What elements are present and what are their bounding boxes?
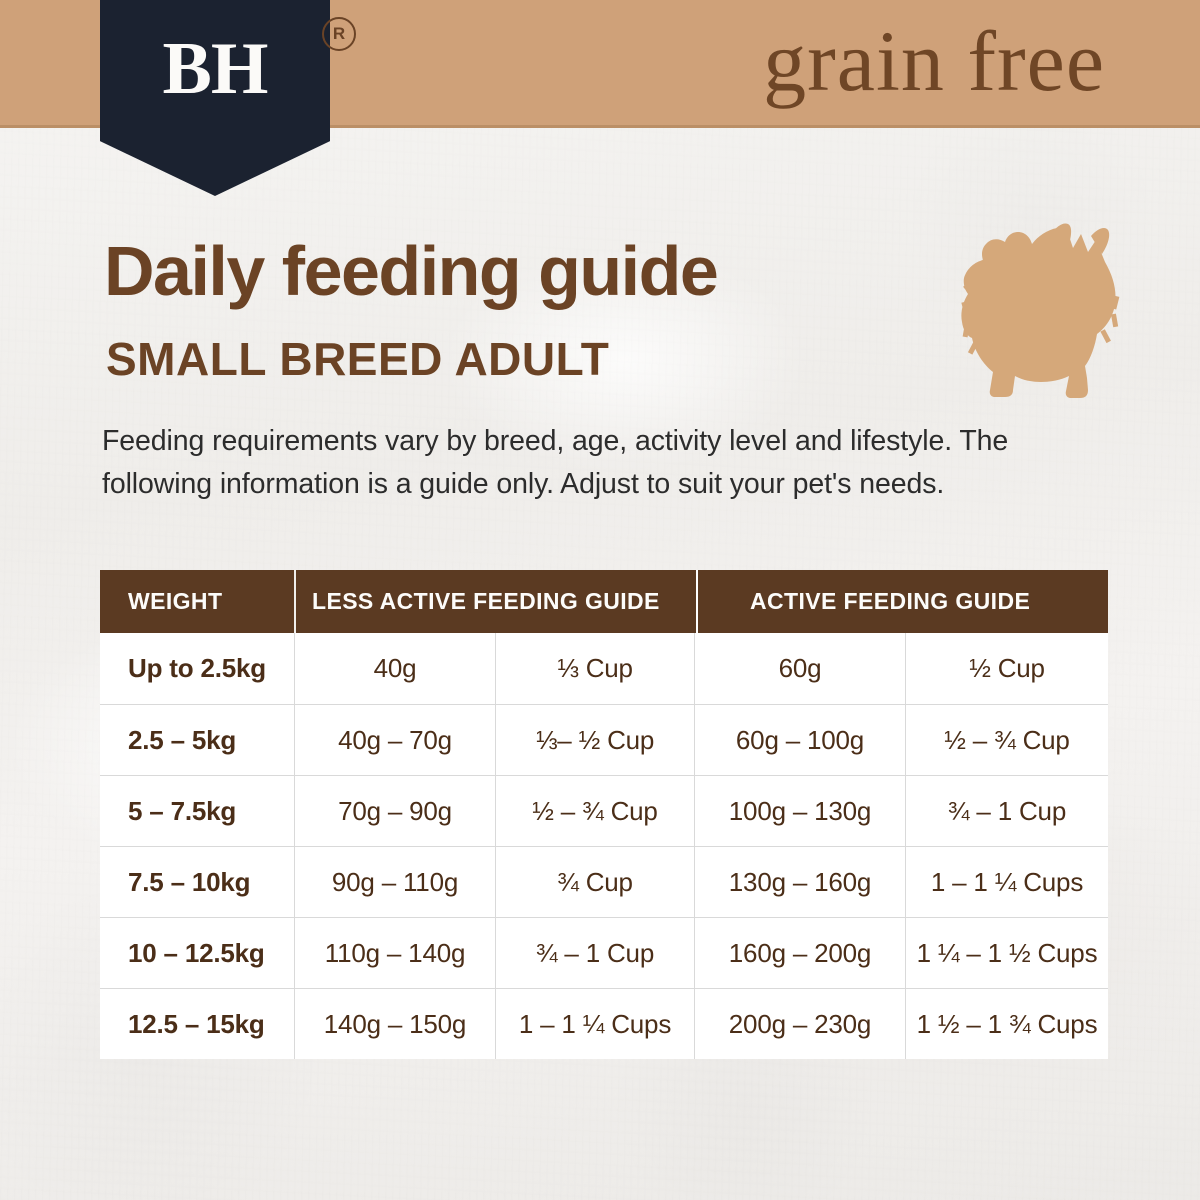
page-subtitle: SMALL BREED ADULT bbox=[106, 336, 609, 382]
table-row: 5 – 7.5kg 70g – 90g ½ – ¾ Cup 100g – 130… bbox=[100, 775, 1108, 846]
column-header-active: ACTIVE FEEDING GUIDE bbox=[698, 570, 1108, 633]
column-header-less-active: LESS ACTIVE FEEDING GUIDE bbox=[296, 570, 696, 633]
table-body: Up to 2.5kg 40g ⅓ Cup 60g ½ Cup 2.5 – 5k… bbox=[100, 633, 1108, 1059]
table-row: 10 – 12.5kg 110g – 140g ¾ – 1 Cup 160g –… bbox=[100, 917, 1108, 988]
cell-less-active-cups: ⅓ Cup bbox=[495, 633, 694, 704]
table-row: 12.5 – 15kg 140g – 150g 1 – 1 ¼ Cups 200… bbox=[100, 988, 1108, 1059]
page-title: Daily feeding guide bbox=[104, 236, 717, 306]
cell-less-active-cups: ⅓– ½ Cup bbox=[495, 705, 694, 775]
cell-active-cups: 1 – 1 ¼ Cups bbox=[905, 847, 1108, 917]
cell-less-active-cups: ½ – ¾ Cup bbox=[495, 776, 694, 846]
cell-active-cups: ¾ – 1 Cup bbox=[905, 776, 1108, 846]
small-breed-dog-silhouette-icon bbox=[955, 218, 1130, 408]
cell-less-active-grams: 40g – 70g bbox=[294, 705, 495, 775]
cell-less-active-grams: 40g bbox=[294, 633, 495, 704]
table-row: 7.5 – 10kg 90g – 110g ¾ Cup 130g – 160g … bbox=[100, 846, 1108, 917]
cell-less-active-grams: 70g – 90g bbox=[294, 776, 495, 846]
cell-weight: 12.5 – 15kg bbox=[100, 989, 294, 1059]
cell-active-cups: ½ – ¾ Cup bbox=[905, 705, 1108, 775]
cell-less-active-grams: 140g – 150g bbox=[294, 989, 495, 1059]
cell-weight: 2.5 – 5kg bbox=[100, 705, 294, 775]
cell-weight: 5 – 7.5kg bbox=[100, 776, 294, 846]
cell-active-grams: 160g – 200g bbox=[694, 918, 905, 988]
cell-active-grams: 60g – 100g bbox=[694, 705, 905, 775]
brand-logo-text: BH bbox=[163, 32, 268, 106]
cell-active-grams: 200g – 230g bbox=[694, 989, 905, 1059]
table-header-row: WEIGHT LESS ACTIVE FEEDING GUIDE ACTIVE … bbox=[100, 570, 1108, 633]
cell-active-grams: 60g bbox=[694, 633, 905, 704]
cell-weight: Up to 2.5kg bbox=[100, 633, 294, 704]
cell-less-active-grams: 90g – 110g bbox=[294, 847, 495, 917]
cell-weight: 10 – 12.5kg bbox=[100, 918, 294, 988]
cell-active-cups: 1 ¼ – 1 ½ Cups bbox=[905, 918, 1108, 988]
daily-feeding-table: WEIGHT LESS ACTIVE FEEDING GUIDE ACTIVE … bbox=[100, 570, 1108, 1059]
cell-active-cups: 1 ½ – 1 ¾ Cups bbox=[905, 989, 1108, 1059]
cell-less-active-cups: ¾ Cup bbox=[495, 847, 694, 917]
table-row: Up to 2.5kg 40g ⅓ Cup 60g ½ Cup bbox=[100, 633, 1108, 704]
cell-less-active-grams: 110g – 140g bbox=[294, 918, 495, 988]
cell-less-active-cups: 1 – 1 ¼ Cups bbox=[495, 989, 694, 1059]
cell-active-cups: ½ Cup bbox=[905, 633, 1108, 704]
cell-active-grams: 130g – 160g bbox=[694, 847, 905, 917]
intro-paragraph: Feeding requirements vary by breed, age,… bbox=[102, 420, 1022, 507]
cell-less-active-cups: ¾ – 1 Cup bbox=[495, 918, 694, 988]
brand-logo-shield: BH bbox=[100, 0, 330, 196]
cell-weight: 7.5 – 10kg bbox=[100, 847, 294, 917]
cell-active-grams: 100g – 130g bbox=[694, 776, 905, 846]
column-header-weight: WEIGHT bbox=[100, 570, 294, 633]
feeding-guide-page: BH R grain free Daily feeding guide SMAL… bbox=[0, 0, 1200, 1200]
table-row: 2.5 – 5kg 40g – 70g ⅓– ½ Cup 60g – 100g … bbox=[100, 704, 1108, 775]
grain-free-tagline: grain free bbox=[763, 12, 1105, 111]
registered-trademark-icon: R bbox=[322, 17, 356, 51]
